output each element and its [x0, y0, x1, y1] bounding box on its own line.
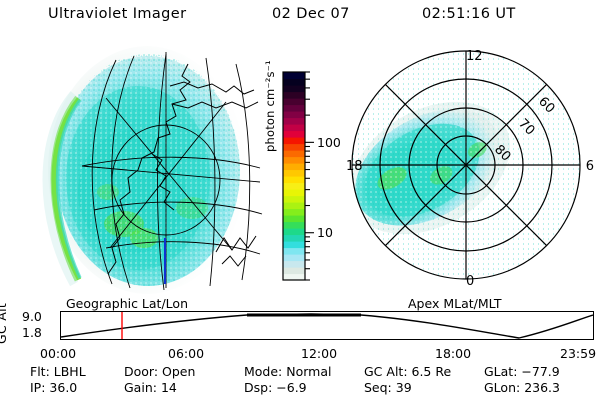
status-row: IP: 36.0Gain: 14Dsp: −6.9Seq: 39GLon: 23… — [0, 380, 600, 396]
status-value: 39 — [396, 380, 412, 395]
colorbar-tick-labels: 10010 — [317, 135, 340, 240]
status-value: −77.9 — [521, 364, 559, 379]
time-axis: 00:0006:0012:0018:0023:59 — [0, 346, 600, 362]
instrument-title: Ultraviolet Imager — [48, 6, 186, 22]
time-axis-tick: 06:00 — [168, 346, 204, 361]
status-item: Gain: 14 — [124, 380, 177, 395]
polar-grid — [352, 51, 580, 279]
time-axis-tick: 12:00 — [301, 346, 337, 361]
geographic-image-panel[interactable] — [20, 42, 270, 294]
status-block: Flt: LBHLDoor: OpenMode: NormalGC Alt: 6… — [0, 364, 600, 398]
status-row: Flt: LBHLDoor: OpenMode: NormalGC Alt: 6… — [0, 364, 600, 380]
mlt-label-top: 12 — [466, 49, 483, 64]
observation-date: 02 Dec 07 — [272, 6, 350, 22]
status-value: Open — [162, 364, 195, 379]
status-item: Mode: Normal — [244, 364, 331, 379]
status-item: GLon: 236.3 — [484, 380, 560, 395]
polar-mlat-mlt-panel[interactable]: 12 18 6 0 60 70 80 — [340, 40, 600, 298]
status-item: Seq: 39 — [364, 380, 412, 395]
status-value: 14 — [161, 380, 177, 395]
status-item: Door: Open — [124, 364, 195, 379]
status-key: GC Alt: — [364, 364, 412, 379]
status-item: IP: 36.0 — [30, 380, 77, 395]
status-item: GC Alt: 6.5 Re — [364, 364, 451, 379]
time-axis-tick: 00:00 — [40, 346, 76, 361]
status-value: 6.5 Re — [412, 364, 452, 379]
status-value: 36.0 — [49, 380, 77, 395]
time-axis-tick: 23:59 — [560, 346, 596, 361]
status-key: Seq: — [364, 380, 396, 395]
status-key: Mode: — [244, 364, 286, 379]
orbit-ytick-top: 9.0 — [22, 309, 42, 324]
mlt-label-right: 6 — [586, 159, 594, 174]
colorbar-tick-label: 10 — [317, 225, 333, 240]
geographic-panel-title: Geographic Lat/Lon — [66, 296, 188, 311]
polar-panel-title: Apex MLat/MLT — [408, 296, 502, 311]
orbit-altitude-plot-box[interactable] — [60, 311, 594, 340]
mlt-label-bottom: 0 — [466, 274, 474, 289]
orbit-ytick-bottom: 1.8 — [22, 325, 42, 340]
status-value: Normal — [286, 364, 331, 379]
status-value: 236.3 — [524, 380, 560, 395]
orbit-yaxis-label: GC Alt — [0, 303, 9, 344]
polar-plot-svg: 12 18 6 0 60 70 80 — [340, 40, 600, 298]
geographic-aurora-svg — [20, 42, 270, 294]
colorbar-tick-label: 100 — [317, 135, 340, 150]
status-key: IP: — [30, 380, 49, 395]
status-item: Flt: LBHL — [30, 364, 86, 379]
subsatellite-marker — [164, 238, 166, 284]
status-key: Flt: — [30, 364, 54, 379]
status-key: Dsp: — [244, 380, 276, 395]
status-value: −6.9 — [276, 380, 306, 395]
status-key: Door: — [124, 364, 162, 379]
colorbar-panel: photon cm⁻²s⁻¹ 10010 — [262, 60, 340, 292]
mlt-label-left: 18 — [346, 159, 363, 174]
colorbar-axis-label: photon cm⁻²s⁻¹ — [263, 60, 277, 152]
header-bar: Ultraviolet Imager 02 Dec 07 02:51:16 UT — [0, 6, 600, 30]
status-key: Gain: — [124, 380, 161, 395]
orbit-altitude-curve-svg — [61, 312, 593, 339]
status-key: GLon: — [484, 380, 524, 395]
colorbar-gradient — [283, 72, 305, 281]
status-item: Dsp: −6.9 — [244, 380, 307, 395]
observation-time: 02:51:16 UT — [422, 6, 516, 22]
time-axis-tick: 18:00 — [435, 346, 471, 361]
status-item: GLat: −77.9 — [484, 364, 560, 379]
orbit-altitude-panel[interactable]: Geographic Lat/Lon Apex MLat/MLT GC Alt … — [0, 296, 600, 344]
status-value: LBHL — [54, 364, 86, 379]
status-key: GLat: — [484, 364, 521, 379]
colorbar-ticks — [305, 72, 314, 280]
